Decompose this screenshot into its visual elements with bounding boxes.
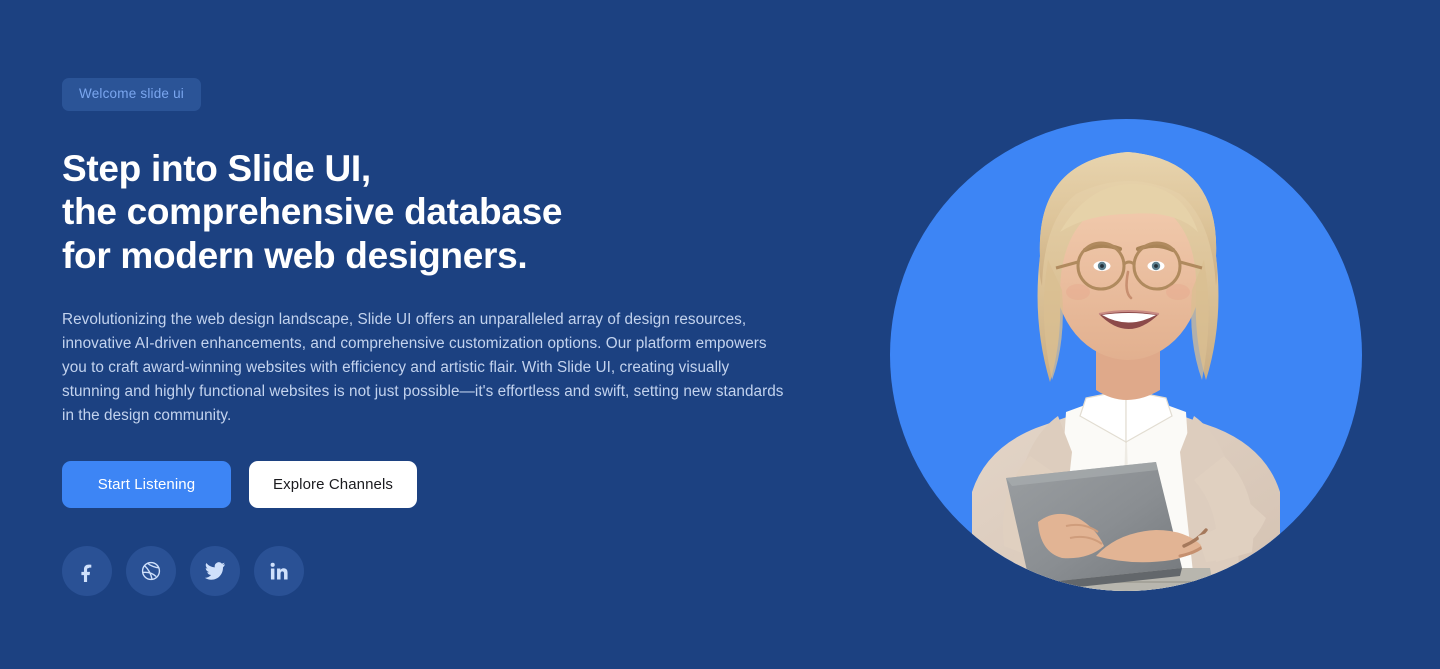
hero-section: Welcome slide ui Step into Slide UI, the… — [0, 0, 1440, 669]
hero-description: Revolutionizing the web design landscape… — [62, 308, 790, 428]
social-link-dribbble[interactable] — [126, 546, 176, 596]
page-title: Step into Slide UI, the comprehensive da… — [62, 147, 842, 278]
twitter-icon — [204, 560, 226, 582]
headline-line-1: Step into Slide UI, — [62, 147, 842, 191]
explore-channels-button[interactable]: Explore Channels — [249, 461, 417, 508]
hero-content: Welcome slide ui Step into Slide UI, the… — [62, 78, 842, 596]
linkedin-icon — [269, 561, 290, 582]
headline-line-2: the comprehensive database — [62, 190, 842, 234]
social-link-facebook[interactable] — [62, 546, 112, 596]
social-links — [62, 546, 842, 596]
start-listening-button[interactable]: Start Listening — [62, 461, 231, 508]
facebook-icon — [76, 560, 98, 582]
cta-button-group: Start Listening Explore Channels — [62, 461, 842, 508]
dribbble-icon — [140, 560, 162, 582]
social-link-linkedin[interactable] — [254, 546, 304, 596]
social-link-twitter[interactable] — [190, 546, 240, 596]
welcome-badge: Welcome slide ui — [62, 78, 201, 111]
headline-line-3: for modern web designers. — [62, 234, 842, 278]
hero-visual — [880, 60, 1380, 660]
portrait-image — [880, 60, 1380, 600]
